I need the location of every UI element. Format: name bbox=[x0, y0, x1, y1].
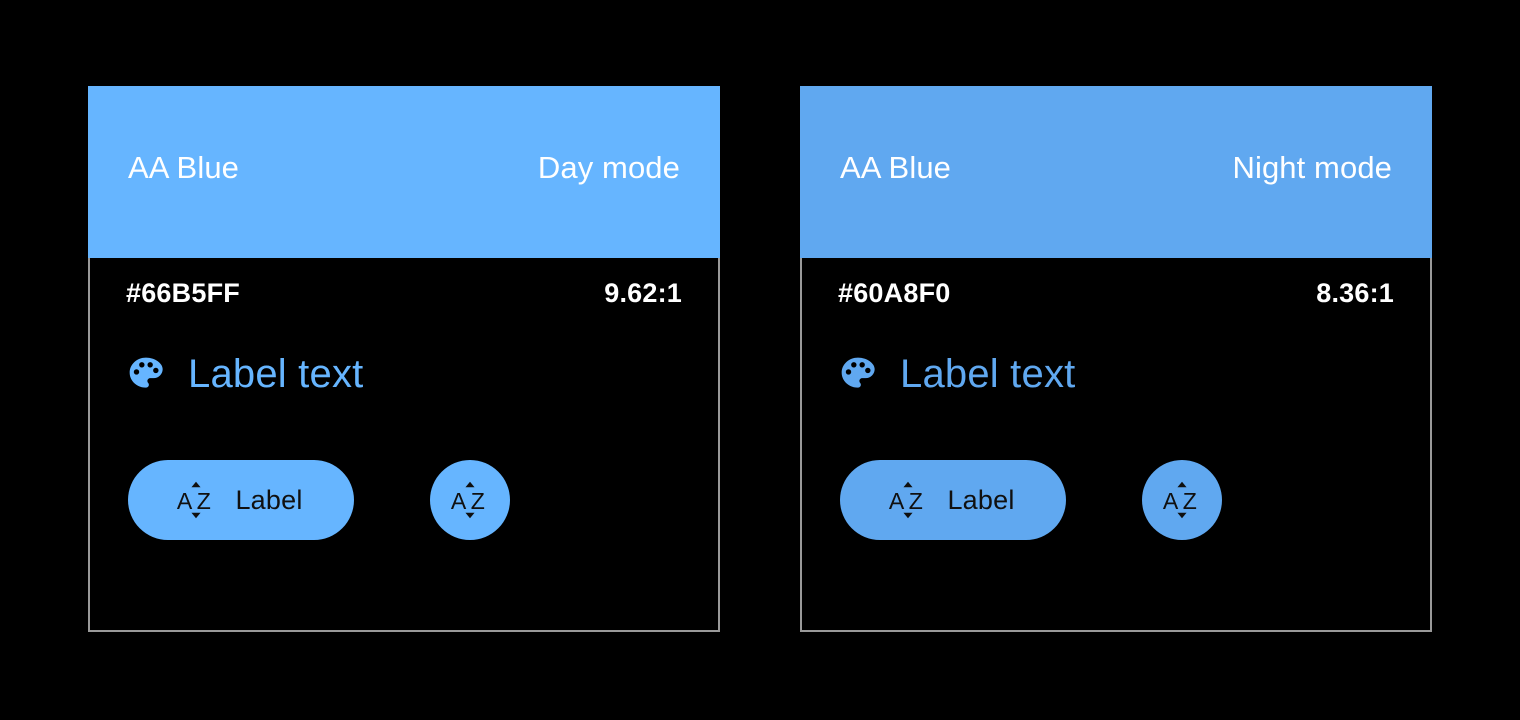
sort-alpha-icon: A Z bbox=[449, 479, 491, 521]
button-row-day: A Z Label A bbox=[128, 460, 510, 540]
sort-fab-button-night[interactable]: A Z bbox=[1142, 460, 1222, 540]
meta-row-day: #66B5FF 9.62:1 bbox=[126, 278, 682, 309]
sort-label-button-night[interactable]: A Z Label bbox=[840, 460, 1066, 540]
swatch-name-day: AA Blue bbox=[128, 150, 239, 186]
svg-text:A: A bbox=[889, 488, 905, 514]
svg-text:Z: Z bbox=[909, 488, 923, 514]
svg-text:A: A bbox=[177, 488, 193, 514]
meta-row-night: #60A8F0 8.36:1 bbox=[838, 278, 1394, 309]
color-preview-card-day: AA Blue Day mode #66B5FF 9.62:1 Label te… bbox=[88, 86, 720, 632]
palette-icon bbox=[126, 354, 166, 394]
sort-fab-button-day[interactable]: A Z bbox=[430, 460, 510, 540]
label-text-day: Label text bbox=[188, 354, 363, 394]
palette-icon-shape bbox=[842, 358, 875, 388]
label-row-day: Label text bbox=[126, 354, 363, 394]
svg-text:Z: Z bbox=[1183, 488, 1197, 514]
swatch-name-night: AA Blue bbox=[840, 150, 951, 186]
sort-button-label-night: Label bbox=[947, 487, 1014, 514]
card-header-row-night: AA Blue Night mode bbox=[840, 150, 1392, 186]
sort-alpha-icon: A Z bbox=[887, 479, 929, 521]
card-header-row-day: AA Blue Day mode bbox=[128, 150, 680, 186]
sort-alpha-icon: A Z bbox=[175, 479, 217, 521]
card-header-day: AA Blue Day mode bbox=[88, 86, 720, 258]
sort-button-label-day: Label bbox=[235, 487, 302, 514]
mode-label-night: Night mode bbox=[1232, 150, 1392, 186]
palette-icon-shape bbox=[130, 358, 163, 388]
label-row-night: Label text bbox=[838, 354, 1075, 394]
sort-label-button-day[interactable]: A Z Label bbox=[128, 460, 354, 540]
card-body-night: #60A8F0 8.36:1 Label text bbox=[800, 258, 1432, 632]
hex-value-day: #66B5FF bbox=[126, 278, 240, 309]
hex-value-night: #60A8F0 bbox=[838, 278, 950, 309]
palette-icon bbox=[838, 354, 878, 394]
svg-text:Z: Z bbox=[197, 488, 211, 514]
svg-text:A: A bbox=[451, 488, 467, 514]
card-body-day: #66B5FF 9.62:1 Label text bbox=[88, 258, 720, 632]
svg-text:A: A bbox=[1163, 488, 1179, 514]
color-preview-card-night: AA Blue Night mode #60A8F0 8.36:1 Label … bbox=[800, 86, 1432, 632]
button-row-night: A Z Label A bbox=[840, 460, 1222, 540]
label-text-night: Label text bbox=[900, 354, 1075, 394]
svg-text:Z: Z bbox=[471, 488, 485, 514]
card-header-night: AA Blue Night mode bbox=[800, 86, 1432, 258]
sort-alpha-icon: A Z bbox=[1161, 479, 1203, 521]
mode-label-day: Day mode bbox=[538, 150, 680, 186]
contrast-ratio-day: 9.62:1 bbox=[604, 278, 682, 309]
preview-stage: AA Blue Day mode #66B5FF 9.62:1 Label te… bbox=[0, 0, 1520, 720]
contrast-ratio-night: 8.36:1 bbox=[1316, 278, 1394, 309]
